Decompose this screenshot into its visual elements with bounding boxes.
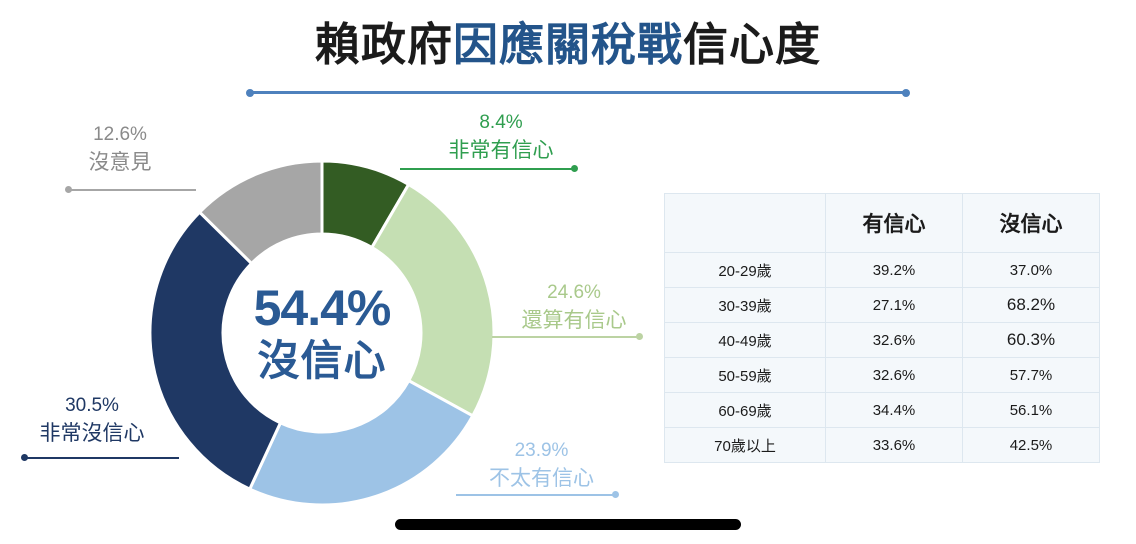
donut-slice-還算有信心	[372, 184, 494, 415]
title-block: 賴政府因應關稅戰信心度	[0, 16, 1136, 74]
callout-very-confident: 8.4% 非常有信心	[418, 110, 584, 166]
table-header-not-confident: 沒信心	[963, 194, 1100, 253]
callout-somewhat-confident-pct: 24.6%	[504, 280, 644, 306]
leader-line-somewhat-confident	[492, 336, 640, 338]
table-cell-age: 50-59歲	[665, 358, 826, 393]
table-cell-confident: 32.6%	[826, 323, 963, 358]
table-row: 50-59歲32.6%57.7%	[665, 358, 1100, 393]
callout-very-confident-label: 非常有信心	[418, 136, 584, 166]
callout-not-at-all-confident: 30.5% 非常沒信心	[12, 393, 172, 449]
donut-slice-不太有信心	[250, 381, 473, 505]
callout-not-much-confident: 23.9% 不太有信心	[469, 438, 614, 494]
callout-no-opinion-label: 沒意見	[60, 148, 180, 178]
table-header-blank	[665, 194, 826, 253]
table-header-row: 有信心 沒信心	[665, 194, 1100, 253]
donut-slices	[150, 161, 494, 505]
donut-chart-svg	[147, 158, 497, 508]
callout-somewhat-confident-label: 還算有信心	[504, 306, 644, 336]
table-cell-age: 70歲以上	[665, 428, 826, 463]
title-underline-rule	[250, 91, 906, 94]
table-cell-confident: 32.6%	[826, 358, 963, 393]
callout-not-much-confident-pct: 23.9%	[469, 438, 614, 464]
donut-chart: 54.4% 沒信心	[147, 158, 497, 508]
callout-very-confident-pct: 8.4%	[418, 110, 584, 136]
page-title-accent: 因應關稅戰	[453, 19, 683, 70]
table-cell-not-confident: 56.1%	[963, 393, 1100, 428]
table-row: 60-69歲34.4%56.1%	[665, 393, 1100, 428]
leader-dot-very-confident	[571, 165, 578, 172]
table-cell-age: 60-69歲	[665, 393, 826, 428]
leader-line-not-much-confident	[456, 494, 616, 496]
page-title-part1: 賴政府	[315, 19, 453, 70]
page-title-part2: 信心度	[683, 19, 821, 70]
callout-not-at-all-confident-label: 非常沒信心	[12, 419, 172, 449]
table-body: 20-29歲39.2%37.0%30-39歲27.1%68.2%40-49歲32…	[665, 253, 1100, 463]
table-cell-confident: 34.4%	[826, 393, 963, 428]
leader-dot-not-much-confident	[612, 491, 619, 498]
table-cell-confident: 33.6%	[826, 428, 963, 463]
leader-line-no-opinion	[68, 189, 196, 191]
table-row: 30-39歲27.1%68.2%	[665, 288, 1100, 323]
leader-dot-somewhat-confident	[636, 333, 643, 340]
table-row: 40-49歲32.6%60.3%	[665, 323, 1100, 358]
table-cell-confident: 39.2%	[826, 253, 963, 288]
table-cell-not-confident: 68.2%	[963, 288, 1100, 323]
age-breakdown-table: 有信心 沒信心 20-29歲39.2%37.0%30-39歲27.1%68.2%…	[664, 193, 1100, 463]
leader-line-very-confident	[400, 168, 575, 170]
callout-no-opinion-pct: 12.6%	[60, 122, 180, 148]
table-row: 20-29歲39.2%37.0%	[665, 253, 1100, 288]
leader-line-not-at-all-confident	[24, 457, 179, 459]
table-header-confident: 有信心	[826, 194, 963, 253]
table-header: 有信心 沒信心	[665, 194, 1100, 253]
table-cell-age: 40-49歲	[665, 323, 826, 358]
table-cell-not-confident: 57.7%	[963, 358, 1100, 393]
table-cell-confident: 27.1%	[826, 288, 963, 323]
table-cell-not-confident: 60.3%	[963, 323, 1100, 358]
callout-not-much-confident-label: 不太有信心	[469, 464, 614, 494]
table-cell-not-confident: 42.5%	[963, 428, 1100, 463]
leader-dot-no-opinion	[65, 186, 72, 193]
callout-not-at-all-confident-pct: 30.5%	[12, 393, 172, 419]
callout-somewhat-confident: 24.6% 還算有信心	[504, 280, 644, 336]
leader-dot-not-at-all-confident	[21, 454, 28, 461]
callout-no-opinion: 12.6% 沒意見	[60, 122, 180, 178]
table-row: 70歲以上33.6%42.5%	[665, 428, 1100, 463]
table-cell-age: 20-29歲	[665, 253, 826, 288]
bottom-accent-bar	[395, 519, 741, 530]
table-cell-age: 30-39歲	[665, 288, 826, 323]
table-cell-not-confident: 37.0%	[963, 253, 1100, 288]
page-title: 賴政府因應關稅戰信心度	[0, 16, 1136, 74]
